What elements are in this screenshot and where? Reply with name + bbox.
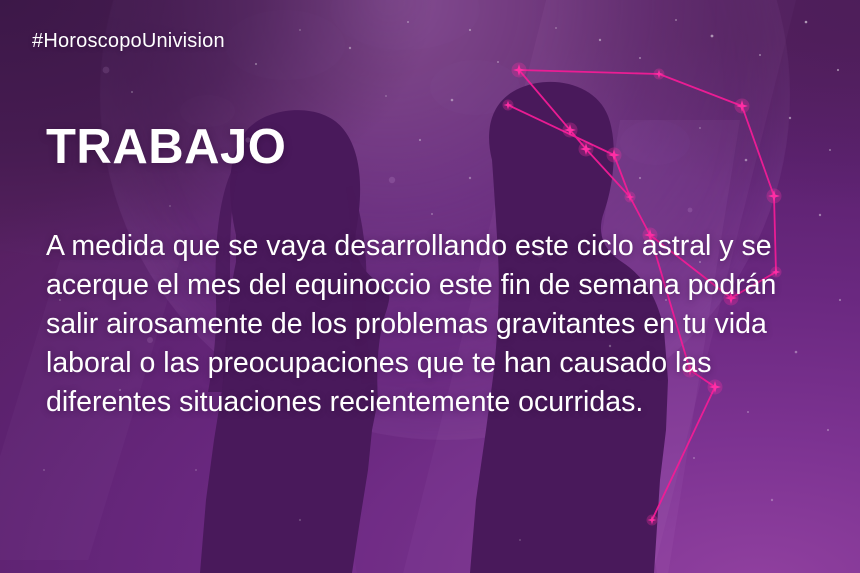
card-content: #HoroscopoUnivision TRABAJO A medida que… <box>0 0 860 573</box>
hashtag-label: #HoroscopoUnivision <box>32 30 225 53</box>
horoscope-card: #HoroscopoUnivision TRABAJO A medida que… <box>0 0 860 573</box>
horoscope-body-text: A medida que se vaya desarrollando este … <box>46 227 836 422</box>
page-title: TRABAJO <box>46 123 286 172</box>
